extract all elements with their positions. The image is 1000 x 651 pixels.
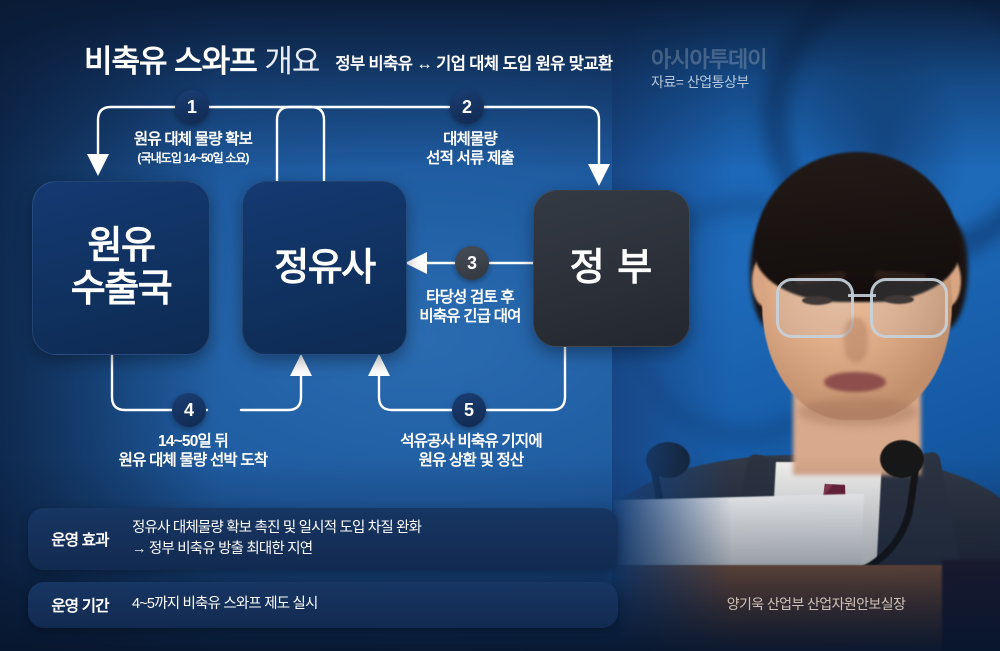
step-caption-4-line2: 원유 대체 물량 선박 도착 [92,451,294,470]
step-caption-1-line1: 원유 대체 물량 확보 [100,130,286,149]
info-row-effect-line1: 정유사 대체물량 확보 촉진 및 일시적 도입 차질 완화 [132,518,421,539]
step-badge-3[interactable]: 3 [455,246,489,280]
arrowhead-step-2 [588,164,610,186]
title-subtitle: 정부 비축유 ↔ 기업 대체 도입 원유 맞교환 [335,50,612,74]
info-row-effect-text: 정유사 대체물량 확보 촉진 및 일시적 도입 차질 완화 → 정부 비축유 방… [132,518,421,560]
step-caption-2: 대체물량 선적 서류 제출 [382,130,558,169]
step-caption-4-line1: 14~50일 뒤 [92,432,294,451]
node-exporter-line1: 원유 [71,225,171,268]
node-refinery[interactable]: 정유사 [242,181,407,355]
step-caption-1-line2: (국내도입 14~50일 소요) [100,151,286,166]
wire-step-5-left [379,372,452,410]
step-badge-4[interactable]: 4 [172,393,206,427]
step-badge-2[interactable]: 2 [450,90,484,124]
step-caption-2-line2: 선적 서류 제출 [382,149,558,168]
step-caption-5-line2: 원유 상환 및 정산 [362,451,580,470]
info-row-period-line1: 4~5까지 비축유 스와프 제도 실시 [132,594,318,615]
chin-shadow [798,398,918,426]
node-crude-oil-exporter[interactable]: 원유 수출국 [32,181,210,355]
node-government-label: 정 부 [570,247,653,290]
title-main-light: 개요 [264,44,319,79]
step-caption-1: 원유 대체 물량 확보 (국내도입 14~50일 소요) [100,130,286,166]
microphone-right-head-icon [880,440,924,478]
step-caption-5-line1: 석유공사 비축유 기지에 [362,432,580,451]
step-caption-3-line2: 비축유 긴급 대여 [382,307,558,326]
info-row-effect: 운영 효과 정유사 대체물량 확보 촉진 및 일시적 도입 차질 완화 → 정부… [28,508,618,570]
title-main: 비축유 스와프 개요 [84,36,319,81]
wire-step-5-right [487,345,565,410]
step-caption-4: 14~50일 뒤 원유 대체 물량 선박 도착 [92,432,294,471]
page-title: 비축유 스와프 개요 정부 비축유 ↔ 기업 대체 도입 원유 맞교환 [84,36,612,81]
info-row-effect-label: 운영 효과 [28,528,132,550]
info-row-effect-line2: → 정부 비축유 방출 최대한 지연 [132,539,421,560]
info-row-period-label: 운영 기간 [28,594,132,616]
step-caption-3-line1: 타당성 검토 후 [382,288,558,307]
node-refiner-label: 정유사 [274,247,374,290]
mouth [824,372,886,392]
nose [844,318,868,362]
arrowhead-step-4 [290,354,312,376]
info-row-period: 운영 기간 4~5까지 비축유 스와프 제도 실시 [28,582,618,628]
step-caption-2-line1: 대체물량 [382,130,558,149]
photo-caption: 양기욱 산업부 산업자원안보실장 [641,594,991,614]
arrowhead-step-5 [368,354,390,376]
infographic-canvas: 비축유 스와프 개요 정부 비축유 ↔ 기업 대체 도입 원유 맞교환 아시아투… [0,0,1000,651]
step-caption-5: 석유공사 비축유 기지에 원유 상환 및 정산 [362,432,580,471]
wire-step-4-right [241,372,301,410]
publisher-watermark: 아시아투데이 [651,42,766,74]
arrowhead-step-3 [405,252,427,274]
step-caption-3: 타당성 검토 후 비축유 긴급 대여 [382,288,558,327]
node-exporter-line2: 수출국 [71,268,171,311]
source-label: 자료= 산업통상부 [651,72,749,92]
title-main-bold: 비축유 스와프 [84,44,257,79]
step-badge-1[interactable]: 1 [175,90,209,124]
info-row-period-text: 4~5까지 비축유 스와프 제도 실시 [132,594,318,615]
step-badge-5[interactable]: 5 [452,393,486,427]
